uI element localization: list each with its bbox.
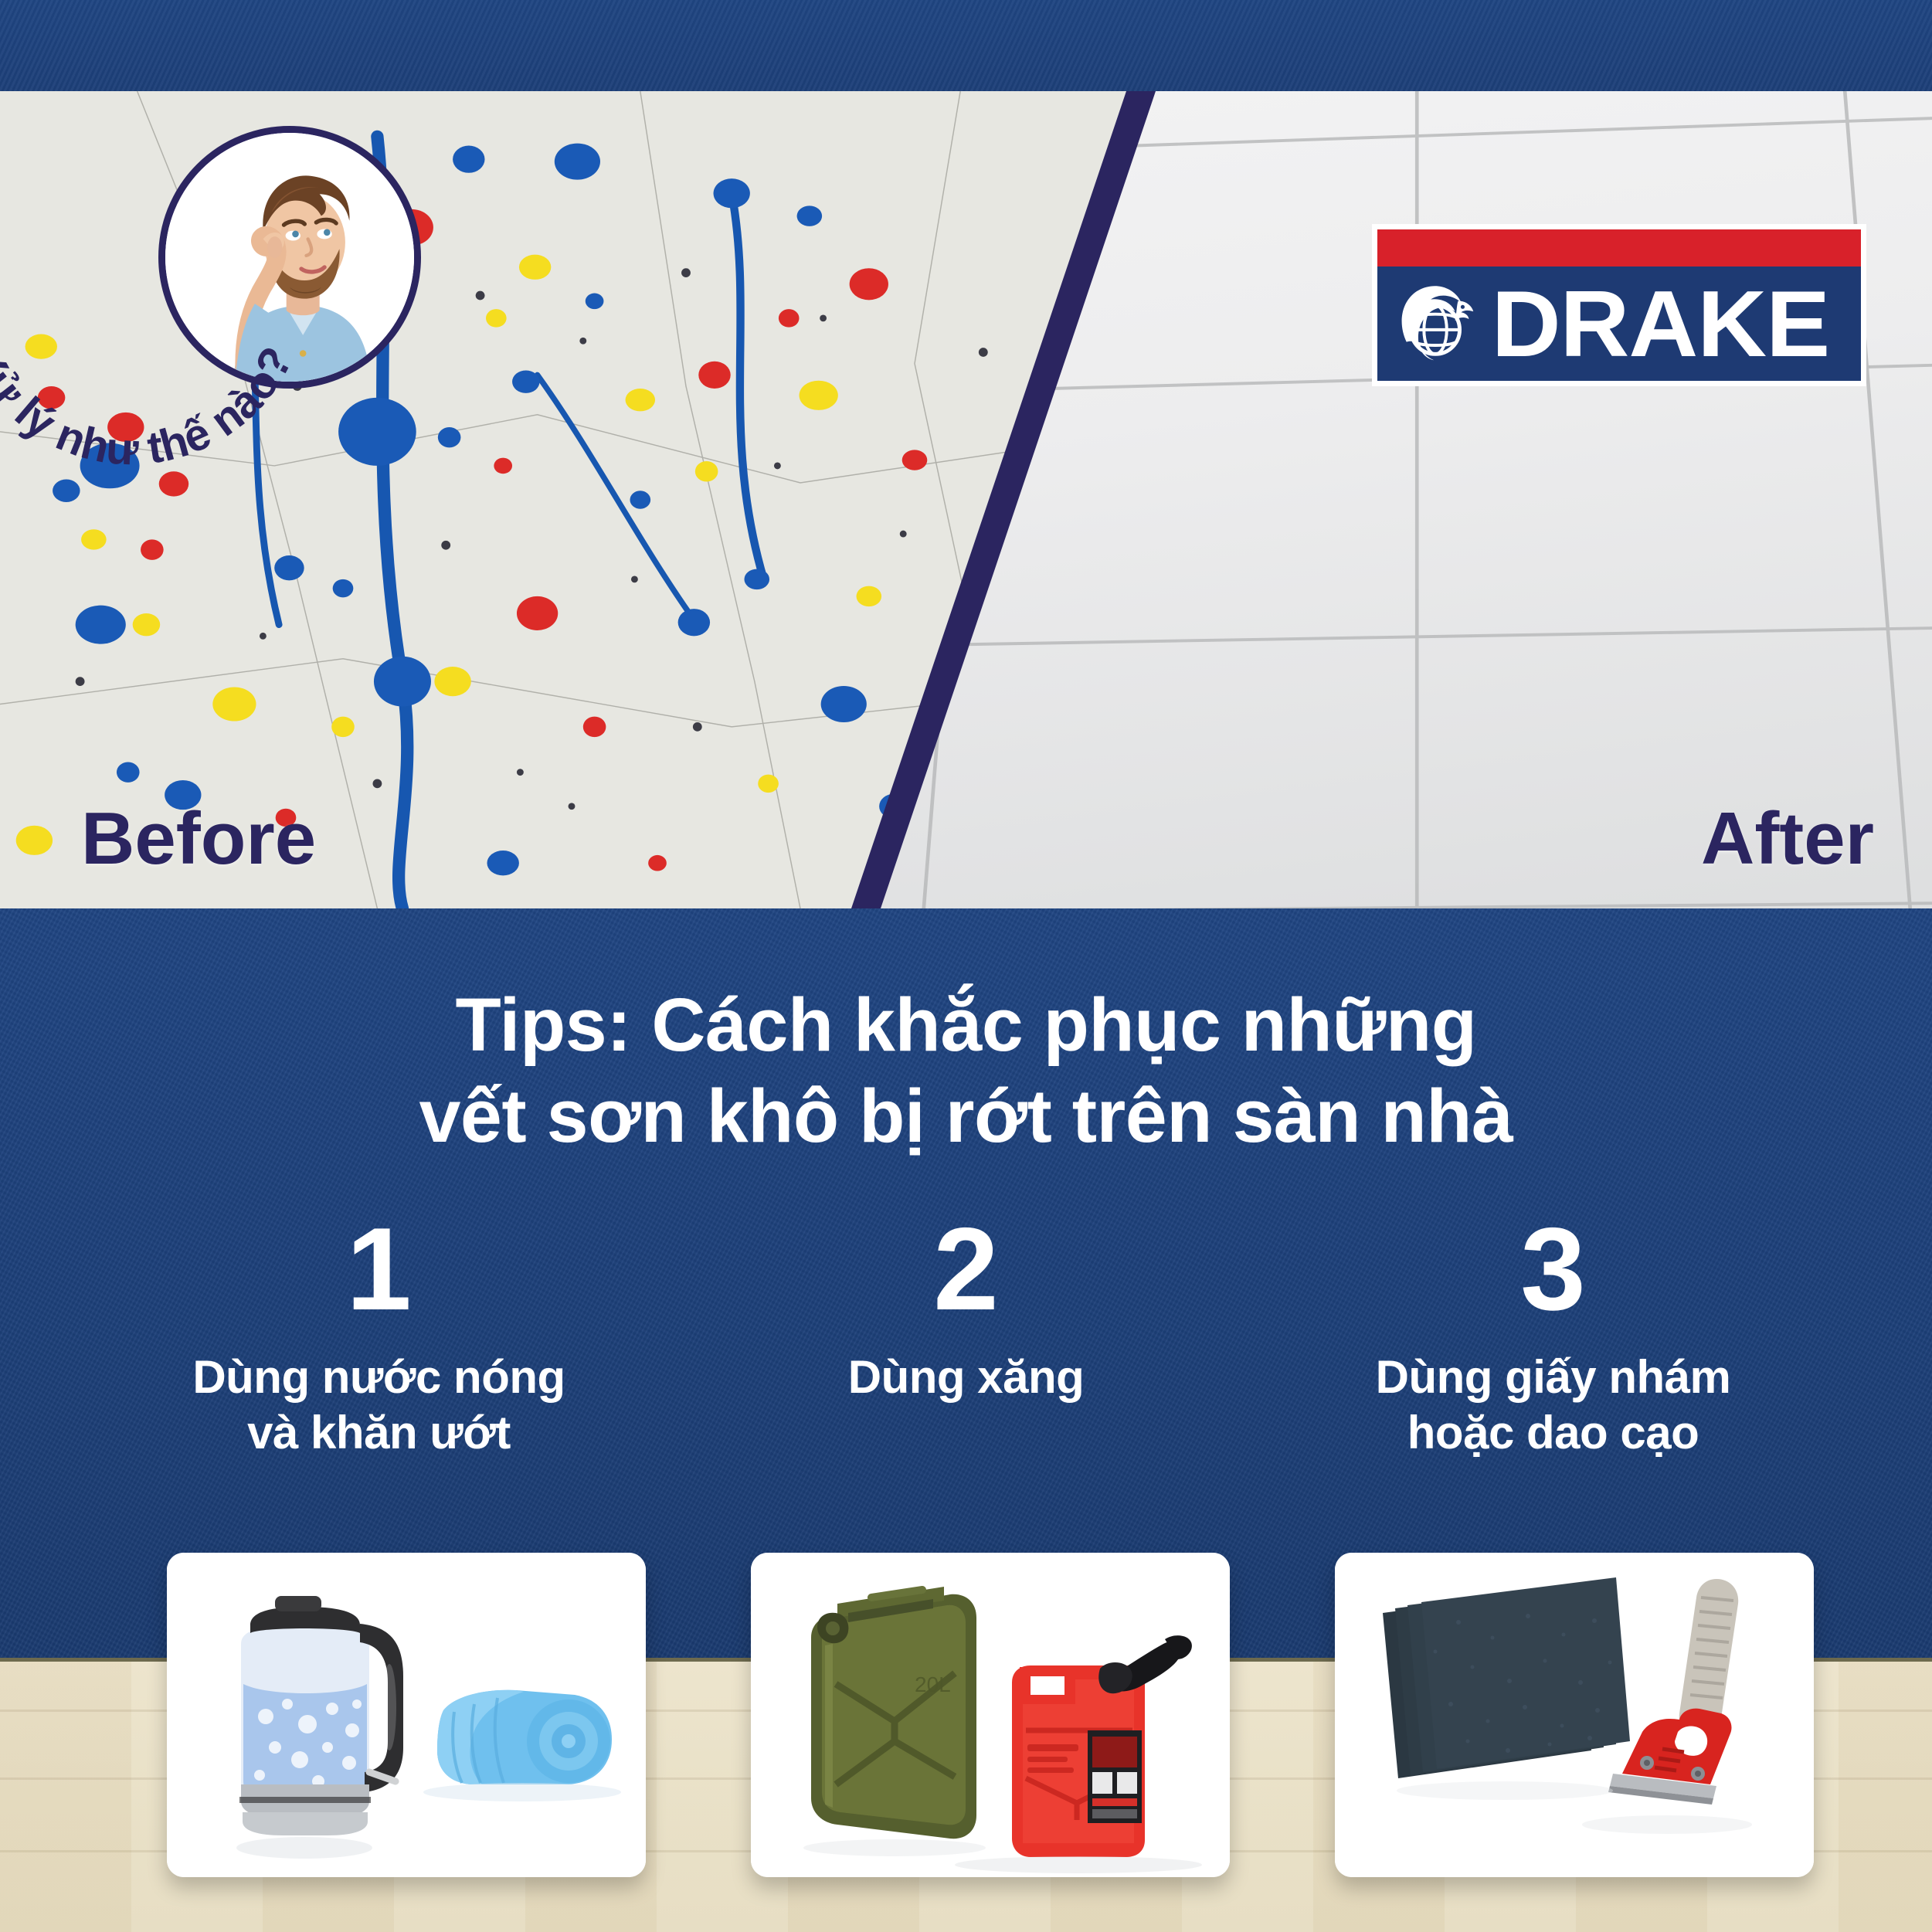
after-label: After [1701, 802, 1874, 876]
step-1-caption-line-1: Dùng nước nóng [86, 1350, 673, 1405]
hero-before-after: Xử lý như thế nào? [0, 91, 1932, 908]
sandpaper-and-scraper-icon [1335, 1553, 1814, 1877]
confused-man-avatar-icon [158, 126, 421, 389]
card-fuel-cans: 20L [751, 1553, 1230, 1877]
dragon-globe-icon [1393, 278, 1484, 369]
step-2: 2 Dùng xăng [673, 1210, 1260, 1405]
step-1: 1 Dùng nước nóng và khăn ướt [86, 1210, 673, 1461]
logo-wordmark: DRAKE [1492, 277, 1829, 371]
card-kettle-towel [167, 1553, 646, 1877]
tips-title-line-2: vết sơn khô bị rớt trên sàn nhà [0, 1071, 1932, 1162]
jerry-cans-icon: 20L [751, 1553, 1230, 1877]
step-1-caption: Dùng nước nóng và khăn ướt [86, 1350, 673, 1461]
tips-title-line-1: Tips: Cách khắc phục những [0, 980, 1932, 1071]
step-3: 3 Dùng giấy nhám hoặc dao cạo [1260, 1210, 1847, 1461]
step-2-number: 2 [673, 1210, 1260, 1328]
step-3-number: 3 [1260, 1210, 1847, 1328]
infographic-poster: Xử lý như thế nào? [0, 0, 1932, 1932]
tips-section: Tips: Cách khắc phục những vết sơn khô b… [0, 908, 1932, 1662]
avatar [158, 126, 421, 389]
product-cards: 20L [0, 1553, 1932, 1877]
step-3-caption-line-1: Dùng giấy nhám [1260, 1350, 1847, 1405]
svg-text:20L: 20L [915, 1672, 951, 1696]
step-2-caption-line-1: Dùng xăng [673, 1350, 1260, 1405]
before-label: Before [81, 802, 316, 876]
card-sandpaper-scraper [1335, 1553, 1814, 1877]
drake-logo: DRAKE [1372, 224, 1866, 386]
top-navy-band [0, 0, 1932, 93]
step-2-caption: Dùng xăng [673, 1350, 1260, 1405]
steps-row: 1 Dùng nước nóng và khăn ướt 2 Dùng xăng… [0, 1210, 1932, 1461]
step-1-number: 1 [86, 1210, 673, 1328]
step-1-caption-line-2: và khăn ướt [86, 1405, 673, 1461]
logo-red-bar [1377, 229, 1861, 267]
kettle-and-towel-icon [167, 1553, 646, 1877]
logo-navy-body: DRAKE [1377, 267, 1861, 381]
tips-title: Tips: Cách khắc phục những vết sơn khô b… [0, 908, 1932, 1163]
step-3-caption-line-2: hoặc dao cạo [1260, 1405, 1847, 1461]
step-3-caption: Dùng giấy nhám hoặc dao cạo [1260, 1350, 1847, 1461]
